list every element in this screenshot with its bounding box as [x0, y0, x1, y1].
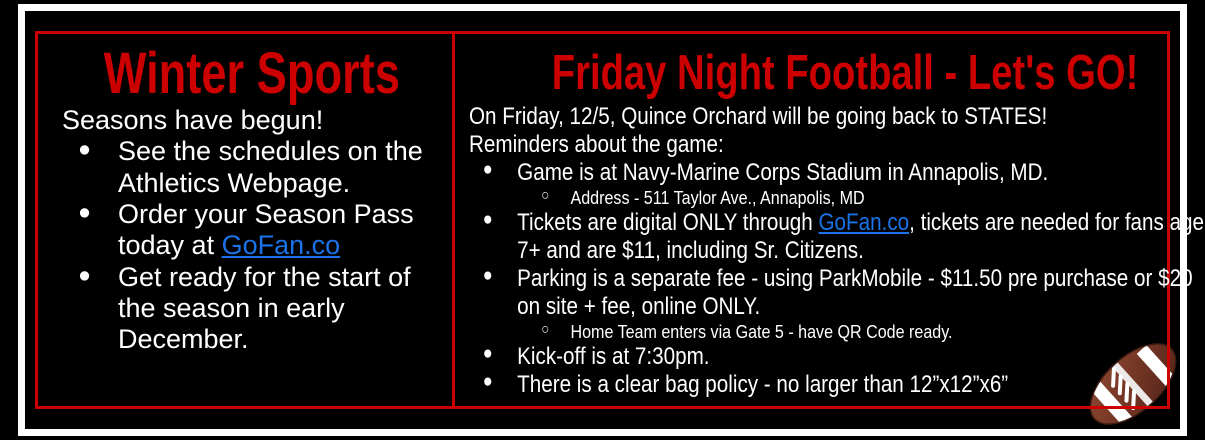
sub-list-item-text: Home Team enters via Gate 5 - have QR Co…: [570, 321, 952, 342]
bullet-marker: ●: [78, 199, 91, 224]
gofan-link[interactable]: GoFan.co: [222, 230, 341, 260]
bullet-marker: ●: [482, 343, 492, 365]
bullet-marker: ●: [482, 371, 492, 393]
bullet-marker: ●: [482, 209, 492, 231]
list-item: ● There is a clear bag policy - no large…: [469, 371, 1205, 399]
two-panel-table: Winter Sports Seasons have begun! ● See …: [35, 31, 1170, 409]
winter-sports-panel: Winter Sports Seasons have begun! ● See …: [38, 34, 455, 406]
list-item-text: Tickets are digital ONLY through: [517, 209, 818, 236]
list-item: ● Parking is a separate fee - using Park…: [469, 265, 1205, 343]
list-item: ● Kick-off is at 7:30pm.: [469, 343, 1205, 371]
list-item: ● Game is at Navy-Marine Corps Stadium i…: [469, 159, 1205, 209]
friday-night-football-body: On Friday, 12/5, Quince Orchard will be …: [469, 103, 1205, 399]
winter-sports-bullet-list: ● See the schedules on the Athletics Web…: [62, 136, 442, 355]
list-item-text: There is a clear bag policy - no larger …: [517, 371, 1008, 398]
bullet-marker: ●: [78, 136, 91, 161]
bullet-marker: ●: [78, 262, 91, 287]
list-item-text: Get ready for the start of the season in…: [118, 262, 411, 355]
list-item: ● See the schedules on the Athletics Web…: [62, 136, 442, 199]
list-item: ● Get ready for the start of the season …: [62, 262, 442, 356]
game-lead-line-1: On Friday, 12/5, Quince Orchard will be …: [469, 103, 1205, 131]
winter-sports-body: Seasons have begun! ● See the schedules …: [62, 105, 442, 356]
announcement-slide: Winter Sports Seasons have begun! ● See …: [0, 0, 1205, 440]
list-item-text: See the schedules on the Athletics Webpa…: [118, 136, 423, 197]
list-item-text: Kick-off is at 7:30pm.: [517, 343, 709, 370]
sub-list-item-text: Address - 511 Taylor Ave., Annapolis, MD: [570, 187, 864, 208]
list-item: ● Order your Season Pass today at GoFan.…: [62, 199, 442, 262]
game-reminders-list: ● Game is at Navy-Marine Corps Stadium i…: [469, 159, 1205, 399]
friday-night-football-panel: Friday Night Football - Let's GO! On Fri…: [455, 34, 1205, 406]
sub-list-item: ○ Home Team enters via Gate 5 - have QR …: [517, 321, 1205, 343]
list-item-text: Parking is a separate fee - using ParkMo…: [517, 265, 1192, 320]
winter-sports-lead: Seasons have begun!: [62, 105, 442, 136]
list-item: ● Tickets are digital ONLY through GoFan…: [469, 209, 1205, 265]
winter-sports-heading: Winter Sports: [104, 44, 400, 103]
bullet-marker: ●: [482, 159, 492, 181]
sub-bullet-marker: ○: [541, 321, 549, 339]
gofan-link[interactable]: GoFan.co: [818, 209, 909, 236]
bullet-marker: ●: [482, 265, 492, 287]
sub-list-item: ○ Address - 511 Taylor Ave., Annapolis, …: [517, 187, 1205, 209]
game-lead-line-2: Reminders about the game:: [469, 131, 1205, 159]
list-item-text: Game is at Navy-Marine Corps Stadium in …: [517, 159, 1048, 186]
friday-night-football-heading: Friday Night Football - Let's GO!: [551, 49, 1138, 99]
sub-bullet-marker: ○: [541, 187, 549, 205]
sub-list: ○ Address - 511 Taylor Ave., Annapolis, …: [517, 187, 1205, 209]
sub-list: ○ Home Team enters via Gate 5 - have QR …: [517, 321, 1205, 343]
